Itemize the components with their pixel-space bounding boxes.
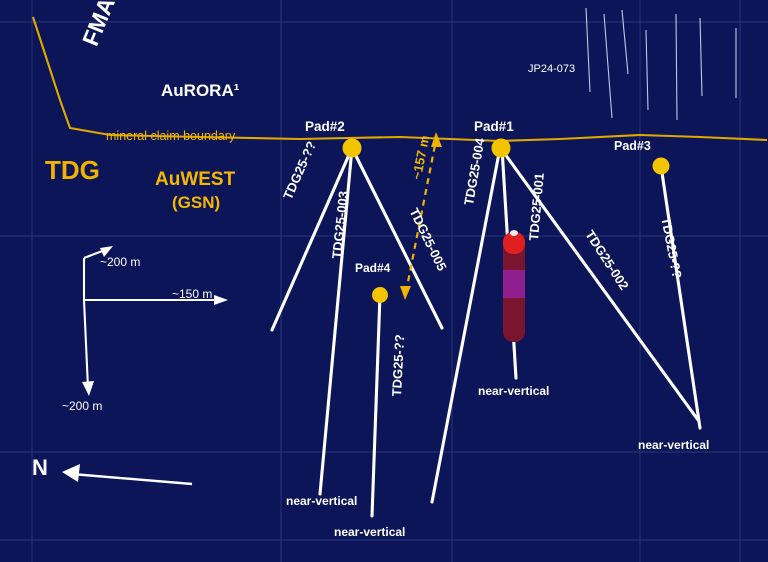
scale-label-down: ~200 m	[62, 400, 102, 413]
scale-label-right: ~150 m	[172, 288, 212, 301]
note-near-vertical-1: near-vertical	[286, 495, 357, 508]
label-north: N	[32, 456, 48, 479]
pad-label-pad1[interactable]: Pad#1	[474, 120, 514, 134]
label-mineral-claim-boundary: mineral claim boundary	[106, 130, 235, 143]
figure-canvas: FMAR AuRORA¹ TDG AuWEST (GSN) mineral cl…	[0, 0, 768, 562]
diagram-vectors	[0, 0, 768, 562]
label-auwest: AuWEST	[155, 170, 235, 190]
label-gsn: (GSN)	[172, 194, 220, 212]
pad-label-pad2[interactable]: Pad#2	[305, 120, 345, 134]
label-jp24-073: JP24-073	[528, 64, 575, 76]
note-near-vertical-4: near-vertical	[638, 439, 709, 452]
pad-label-pad4[interactable]: Pad#4	[355, 262, 390, 275]
north-arrow	[62, 464, 192, 484]
note-near-vertical-2: near-vertical	[334, 526, 405, 539]
scale-label-up: ~200 m	[100, 256, 140, 269]
mineral-claim-boundary-line	[33, 17, 767, 141]
pad-label-pad3[interactable]: Pad#3	[614, 140, 651, 153]
note-near-vertical-3: near-vertical	[478, 385, 549, 398]
label-tdg: TDG	[45, 157, 100, 184]
hole-label-tdg25-qq-b[interactable]: TDG25-??	[390, 334, 407, 397]
background-traces	[586, 8, 736, 120]
label-aurora: AuRORA¹	[161, 82, 239, 100]
mineralized-intercept	[503, 230, 525, 342]
